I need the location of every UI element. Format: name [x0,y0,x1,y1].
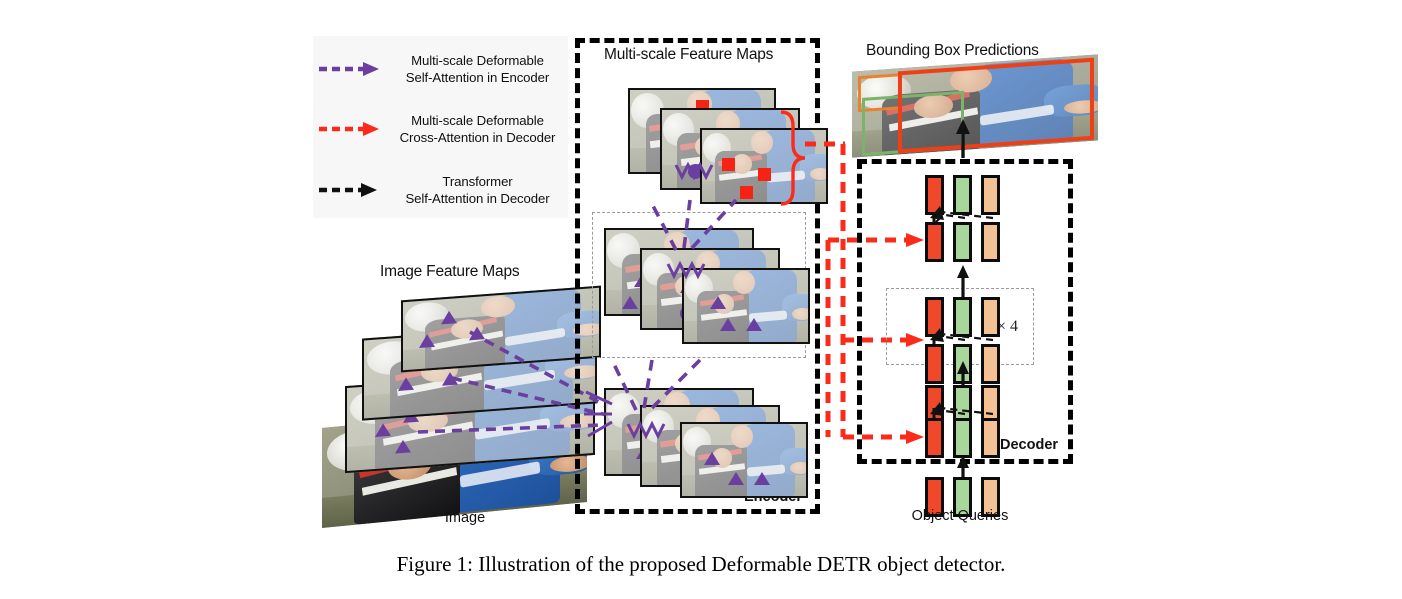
legend-panel: Multi-scale DeformableSelf-Attention in … [313,36,568,218]
decoder-repeat-label: × 4 [997,318,1018,336]
image-feature-map-level-3 [401,286,601,373]
legend-item-decoder-cross-attention: Multi-scale DeformableCross-Attention in… [313,106,568,152]
image-feature-maps-title: Image Feature Maps [380,263,519,281]
dashed-arrow-icon [313,180,387,200]
legend-label-encoder-attention: Multi-scale DeformableSelf-Attention in … [387,52,568,86]
bounding-box-player-blue [898,58,1094,154]
query-box-green [953,344,972,384]
query-box-green [953,175,972,215]
query-box-green [953,222,972,262]
object-queries-label: Object Queries [880,508,1040,524]
query-box-red [925,344,944,384]
encoder-bottom-feature-map-large [680,422,808,498]
input-image-label: Image [400,510,530,526]
encoder-top-feature-map-large [700,128,828,204]
query-box-orange [981,222,1000,262]
dashed-arrow-icon [313,119,387,139]
decoder-label: Decoder [1000,437,1058,453]
legend-label-decoder-cross-attention: Multi-scale DeformableCross-Attention in… [387,112,568,146]
bounding-box-predictions-title: Bounding Box Predictions [866,42,1039,60]
query-box-green [953,418,972,458]
query-box-red [925,297,944,337]
query-box-orange [981,297,1000,337]
decoder-layer3-output-row [925,175,1000,215]
figure-caption: Figure 1: Illustration of the proposed D… [0,552,1402,577]
prediction-image [852,54,1098,157]
decoder-layer3-input-row [925,222,1000,262]
query-box-orange [981,344,1000,384]
multiscale-feature-maps-title: Multi-scale Feature Maps [604,46,773,64]
legend-label-decoder-self-attention: TransformerSelf-Attention in Decoder [387,173,568,207]
dashed-arrow-icon [313,59,387,79]
query-box-orange [981,418,1000,458]
query-box-red [925,222,944,262]
decoder-layer1-input-row [925,418,1000,458]
query-box-red [925,418,944,458]
query-box-red [925,175,944,215]
query-box-orange [981,175,1000,215]
legend-item-encoder-attention: Multi-scale DeformableSelf-Attention in … [313,46,568,92]
decoder-layer2-input-row [925,344,1000,384]
legend-item-decoder-self-attention: TransformerSelf-Attention in Decoder [313,167,568,213]
encoder-mid-feature-map-large [682,268,810,344]
decoder-layer2-output-row [925,297,1000,337]
query-box-green [953,297,972,337]
